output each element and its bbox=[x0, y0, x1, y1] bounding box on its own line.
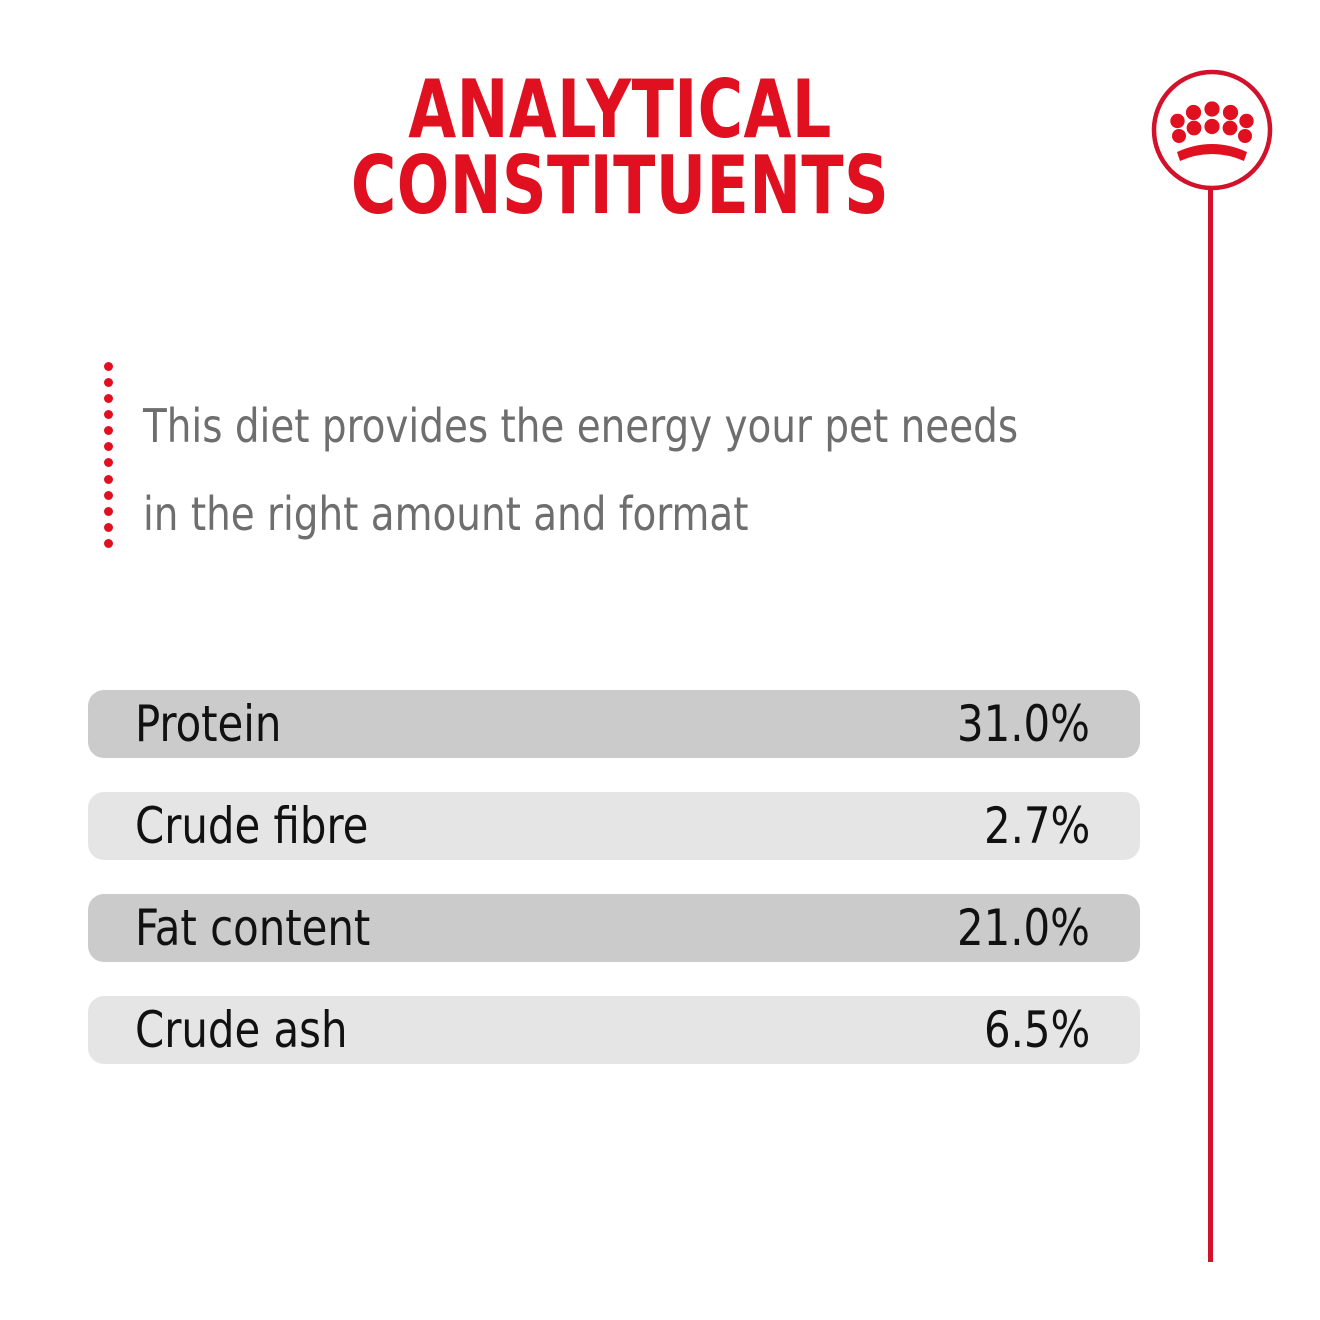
rule-dot bbox=[104, 426, 113, 435]
analytical-constituents-panel: ANALYTICAL CONSTITUENTS bbox=[0, 0, 1320, 1320]
rule-dot bbox=[104, 523, 113, 532]
constituent-value: 21.0% bbox=[957, 903, 1090, 953]
rule-dot bbox=[104, 362, 113, 371]
crown-logo-icon bbox=[1150, 68, 1274, 192]
rule-dot bbox=[104, 539, 113, 548]
dotted-accent-rule bbox=[102, 362, 114, 548]
constituent-value: 31.0% bbox=[957, 699, 1090, 749]
constituent-value: 2.7% bbox=[984, 801, 1090, 851]
constituent-value: 6.5% bbox=[984, 1005, 1090, 1055]
table-row: Fat content 21.0% bbox=[88, 894, 1140, 962]
constituent-label: Crude fibre bbox=[135, 801, 368, 851]
intro-paragraph: This diet provides the energy your pet n… bbox=[143, 382, 1045, 558]
rule-dot bbox=[104, 507, 113, 516]
constituent-label: Fat content bbox=[135, 903, 370, 953]
rule-dot bbox=[104, 394, 113, 403]
table-row: Crude fibre 2.7% bbox=[88, 792, 1140, 860]
constituent-label: Crude ash bbox=[135, 1005, 347, 1055]
table-row: Protein 31.0% bbox=[88, 690, 1140, 758]
rule-dot bbox=[104, 491, 113, 500]
rule-dot bbox=[104, 458, 113, 467]
rule-dot bbox=[104, 378, 113, 387]
brand-vertical-rule bbox=[1208, 188, 1213, 1262]
rule-dot bbox=[104, 475, 113, 484]
table-row: Crude ash 6.5% bbox=[88, 996, 1140, 1064]
royal-canin-crown-logo bbox=[1150, 68, 1274, 192]
constituents-table: Protein 31.0% Crude fibre 2.7% Fat conte… bbox=[88, 690, 1140, 1064]
page-title: ANALYTICAL CONSTITUENTS bbox=[190, 72, 1050, 224]
rule-dot bbox=[104, 410, 113, 419]
rule-dot bbox=[104, 442, 113, 451]
constituent-label: Protein bbox=[135, 699, 281, 749]
